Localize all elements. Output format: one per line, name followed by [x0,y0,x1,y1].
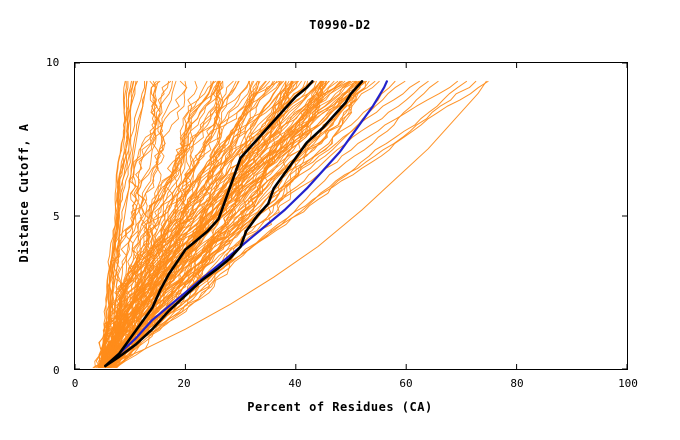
x-tick-label-60: 60 [396,377,416,390]
y-tick-label-0: 0 [53,364,60,377]
plot-area [74,62,628,370]
x-tick-label-40: 40 [285,377,305,390]
y-tick-label-5: 5 [53,210,60,223]
chart-title: T0990-D2 [0,18,680,32]
x-tick-label-80: 80 [507,377,527,390]
y-axis-label: Distance Cutoff, A [17,83,31,303]
plot-curves [75,63,627,369]
y-tick-label-10: 10 [46,56,59,69]
x-tick-label-100: 100 [613,377,643,390]
x-tick-label-0: 0 [70,377,80,390]
x-tick-label-20: 20 [174,377,194,390]
x-axis-label: Percent of Residues (CA) [0,400,680,414]
chart-canvas: T0990-D2 Distance Cutoff, A Percent of R… [0,0,680,440]
